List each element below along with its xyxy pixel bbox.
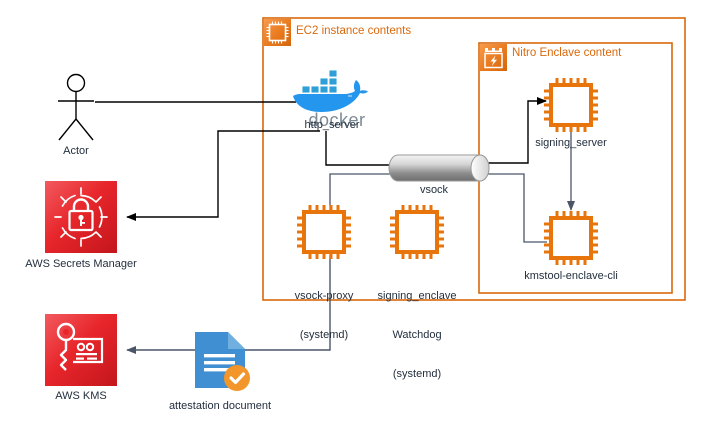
cpu-chip-icon-signing-server [544, 78, 598, 132]
cpu-chip-icon-signing-enclave-watchdog [390, 205, 444, 259]
connector-http-server-to-secrets-manager [127, 131, 320, 217]
vsock-label: vsock [394, 184, 474, 197]
signing-enclave-watchdog-label-line1: signing_enclave [352, 290, 482, 303]
nitro-enclave-group-label: Nitro Enclave content [512, 47, 621, 60]
cpu-chip-icon-vsock-proxy [297, 205, 351, 259]
cpu-chip-icon-kmstool-enclave-cli [544, 211, 598, 265]
vsock-pipe-icon [389, 155, 489, 181]
http-server-label: http_server [262, 119, 402, 132]
ec2-instance-icon [264, 19, 291, 46]
aws-kms-icon [45, 314, 117, 386]
attestation-document-label: attestation document [120, 400, 320, 413]
signing-server-label: signing_server [496, 137, 646, 150]
nitro-enclave-icon [480, 44, 507, 71]
signing-enclave-watchdog-label-line2: Watchdog [352, 329, 482, 342]
connector-http-server-to-vsock [326, 131, 390, 165]
attestation-document-icon [195, 332, 250, 391]
secrets-manager-label: AWS Secrets Manager [0, 258, 171, 271]
signing-enclave-watchdog-label: signing_enclave Watchdog (systemd) [352, 264, 482, 394]
kmstool-enclave-cli-label: kmstool-enclave-cli [486, 270, 656, 283]
actor-label: Actor [36, 145, 116, 158]
aws-secrets-manager-icon [45, 181, 117, 253]
nitro-enclave-group [479, 43, 672, 293]
ec2-group-label: EC2 instance contents [296, 25, 411, 38]
signing-enclave-watchdog-label-line3: (systemd) [352, 368, 482, 381]
connector-vsock-to-kmstool-enclave-cli [487, 174, 547, 242]
connector-vsock-to-signing-server [487, 101, 546, 163]
actor-stick-figure-icon [58, 75, 94, 141]
